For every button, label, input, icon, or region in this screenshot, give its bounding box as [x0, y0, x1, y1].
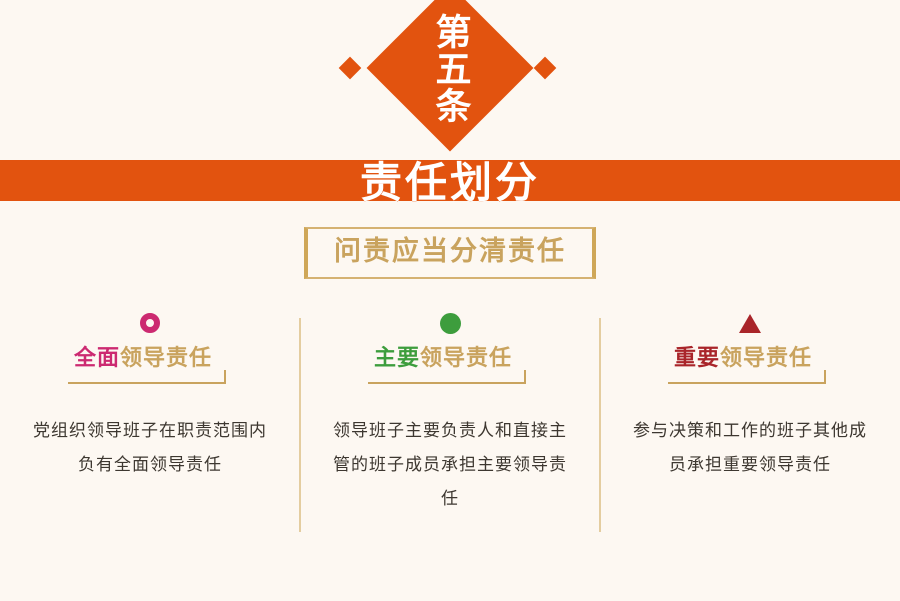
page-title-upper-clip: 责任划分 — [0, 160, 900, 201]
article-number-label: 第五条 — [375, 0, 525, 143]
heading-rest-text: 领导责任 — [420, 345, 512, 371]
column-body-text: 参与决策和工作的班子其他成员承担重要领导责任 — [625, 414, 875, 482]
article-emblem: 第五条 — [375, 0, 525, 143]
circle-icon — [440, 313, 461, 334]
column-body-text: 领导班子主要负责人和直接主管的班子成员承担主要领导责任 — [325, 414, 575, 516]
subtitle-text: 问责应当分清责任 — [334, 235, 566, 269]
page-title-overflow: 责任划分 — [0, 201, 900, 206]
column-heading: 重要领导责任 — [674, 344, 812, 372]
marker-slot — [140, 310, 160, 336]
column-heading-wrap: 重要领导责任 — [674, 344, 826, 372]
diamond-icon-right — [534, 57, 557, 80]
ring-icon — [140, 313, 160, 333]
column-heading-wrap: 全面领导责任 — [74, 344, 226, 372]
heading-underline-bracket — [68, 370, 226, 384]
heading-accent-text: 全面 — [74, 345, 120, 371]
triangle-icon — [739, 314, 761, 333]
diamond-icon-left — [339, 57, 362, 80]
responsibility-column-overall: 全面领导责任 党组织领导班子在职责范围内负有全面领导责任 — [0, 310, 300, 540]
column-heading-wrap: 主要领导责任 — [374, 344, 526, 372]
column-heading: 全面领导责任 — [74, 344, 212, 372]
heading-underline-bracket — [368, 370, 526, 384]
heading-underline-bracket — [668, 370, 826, 384]
responsibility-column-primary: 主要领导责任 领导班子主要负责人和直接主管的班子成员承担主要领导责任 — [300, 310, 600, 540]
heading-rest-text: 领导责任 — [720, 345, 812, 371]
marker-slot — [440, 310, 461, 336]
heading-accent-text: 重要 — [674, 345, 720, 371]
responsibility-columns: 全面领导责任 党组织领导班子在职责范围内负有全面领导责任 主要领导责任 领导班子… — [0, 310, 900, 540]
heading-accent-text: 主要 — [374, 345, 420, 371]
responsibility-column-important: 重要领导责任 参与决策和工作的班子其他成员承担重要领导责任 — [600, 310, 900, 540]
hero-section: 第五条 — [0, 0, 900, 160]
heading-rest-text: 领导责任 — [120, 345, 212, 371]
subtitle-box: 问责应当分清责任 — [304, 227, 596, 279]
page-title: 责任划分 — [0, 160, 900, 201]
column-body-text: 党组织领导班子在职责范围内负有全面领导责任 — [25, 414, 275, 482]
marker-slot — [739, 310, 761, 336]
column-heading: 主要领导责任 — [374, 344, 512, 372]
